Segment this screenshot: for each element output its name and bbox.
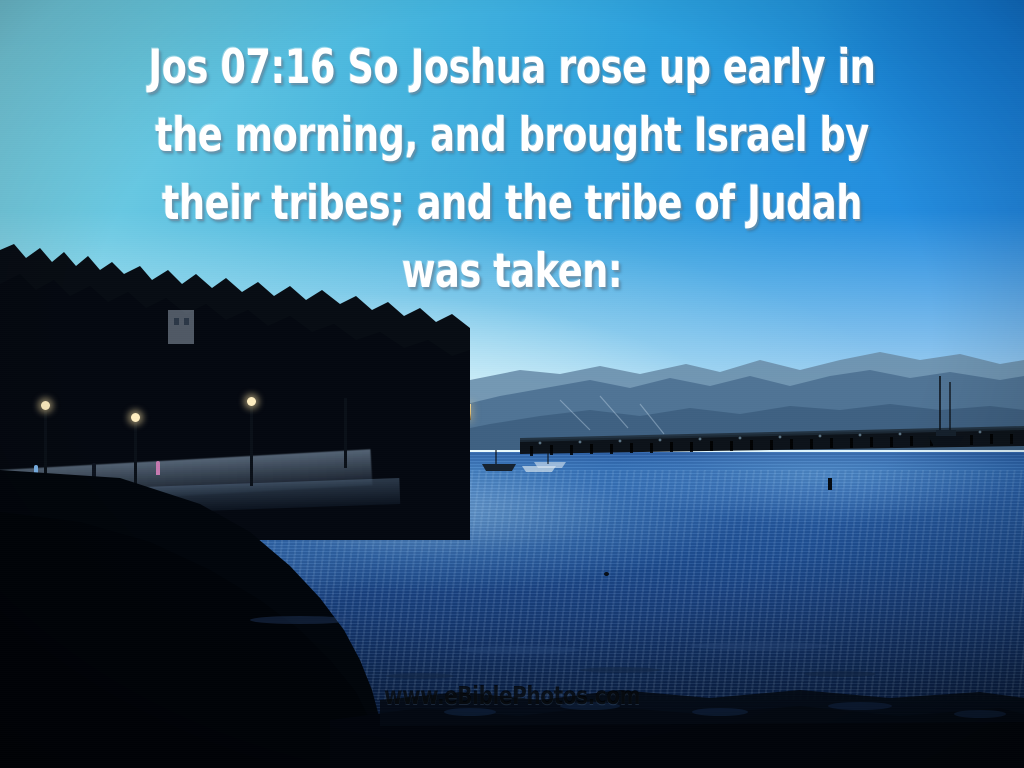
verse-text: Jos 07:16 So Joshua rose up early in the…	[113, 34, 912, 306]
lamp-globe-icon	[247, 397, 256, 406]
photo-canvas: Jos 07:16 So Joshua rose up early in the…	[0, 0, 1024, 768]
lamp-globe-icon	[41, 401, 50, 410]
lamp-post	[344, 398, 347, 468]
rocky-foreshore	[0, 470, 1024, 768]
lamp-globe-icon	[131, 413, 140, 422]
anchored-sailboat	[920, 372, 972, 454]
